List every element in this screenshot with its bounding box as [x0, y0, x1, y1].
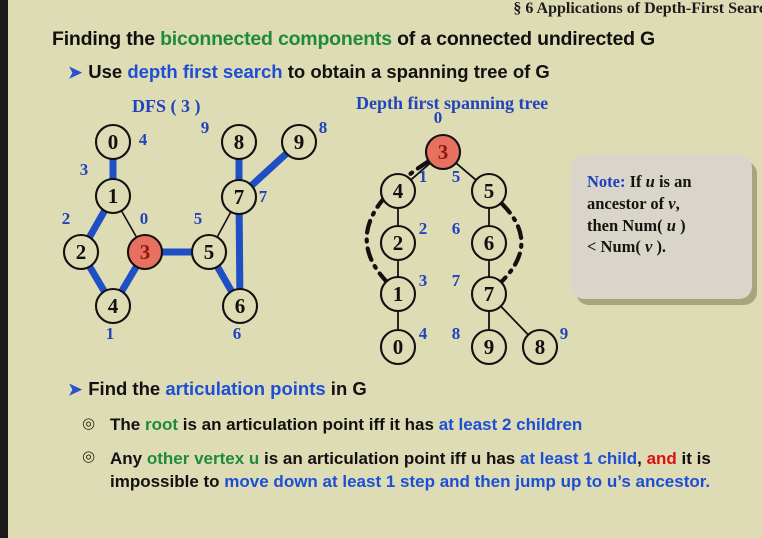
- title-highlight-green: biconnected components: [160, 28, 392, 50]
- note-l1a: If: [625, 172, 645, 191]
- right-num-label-1: 3: [419, 271, 428, 290]
- note-l2b: ,: [676, 194, 680, 213]
- bullet-find-part-2: in G: [326, 378, 367, 399]
- title-part-1: Finding the: [52, 28, 160, 50]
- left-node-5[interactable]: [192, 235, 226, 269]
- left-node-label-5: 5: [204, 240, 215, 264]
- left-num-label-8: 9: [201, 118, 210, 137]
- left-edge-7-9: [251, 153, 287, 186]
- right-num-label-5: 5: [452, 167, 461, 186]
- right-edge-3-5: [455, 162, 477, 180]
- arrow-bullet-icon: ➤: [68, 63, 82, 83]
- note-l2a: ancestor of: [587, 194, 668, 213]
- bullet-use-part-1: Use: [88, 61, 127, 82]
- left-num-label-1: 3: [80, 160, 89, 179]
- bullet-use-dfs: ➤Use depth first search to obtain a span…: [68, 61, 550, 83]
- sub-bullet-2-seg-1: other vertex u: [147, 449, 259, 468]
- right-num-label-4: 1: [419, 167, 428, 186]
- left-node-7[interactable]: [222, 180, 256, 214]
- sub-bullet-2-seg-5: and: [647, 449, 677, 468]
- left-node-4[interactable]: [96, 289, 130, 323]
- left-node-label-8: 8: [234, 130, 245, 154]
- right-node-label-5: 5: [484, 179, 495, 203]
- sub-bullet-1-seg-1: root: [145, 415, 178, 434]
- note-l4b: ).: [652, 237, 666, 256]
- left-node-8[interactable]: [222, 125, 256, 159]
- right-num-label-9: 8: [452, 324, 461, 343]
- target-bullet-icon-2: ◎: [82, 447, 95, 465]
- left-num-label-0: 4: [139, 130, 148, 149]
- sub-bullet-root: The root is an articulation point iff it…: [110, 415, 762, 435]
- left-node-label-4: 4: [108, 294, 119, 318]
- target-bullet-icon-1: ◎: [82, 414, 95, 432]
- right-node-label-8: 8: [535, 335, 546, 359]
- note-var-u-1: u: [646, 172, 655, 191]
- left-node-0[interactable]: [96, 125, 130, 159]
- left-node-label-1: 1: [108, 184, 119, 208]
- note-l1b: is an: [655, 172, 692, 191]
- left-num-label-6: 6: [233, 324, 242, 343]
- right-node-label-7: 7: [484, 282, 495, 306]
- title-part-2: of a connected undirected G: [392, 28, 655, 50]
- left-num-label-9: 8: [319, 118, 328, 137]
- left-edge-1-3: [121, 210, 137, 238]
- left-edge-6-7: [239, 213, 240, 290]
- left-node-label-3: 3: [140, 240, 151, 264]
- right-node-label-2: 2: [393, 231, 404, 255]
- note-l4a: < Num(: [587, 237, 645, 256]
- left-node-6[interactable]: [223, 289, 257, 323]
- right-node-1[interactable]: [381, 277, 415, 311]
- header-title: § 6 Applications of Depth-First Searc: [513, 0, 762, 18]
- right-node-label-4: 4: [393, 179, 404, 203]
- right-edge-7-8: [500, 306, 529, 336]
- slide-header: § 6 Applications of Depth-First Searc: [8, 0, 762, 20]
- sub-bullet-other-vertex: Any other vertex u is an articulation po…: [110, 448, 750, 493]
- right-node-label-6: 6: [484, 231, 495, 255]
- sub-bullet-2-seg-0: Any: [110, 449, 147, 468]
- right-node-2[interactable]: [381, 226, 415, 260]
- left-edge-4-3: [121, 266, 137, 292]
- note-var-u-2: u: [667, 216, 676, 235]
- right-node-0[interactable]: [381, 330, 415, 364]
- right-node-label-1: 1: [393, 282, 404, 306]
- right-node-label-0: 0: [393, 335, 404, 359]
- right-back-arc-5-7: [502, 204, 522, 282]
- right-edge-3-4: [410, 162, 431, 180]
- bullet-find-highlight: articulation points: [165, 378, 325, 399]
- right-num-label-8: 9: [560, 324, 569, 343]
- left-num-label-2: 2: [62, 209, 71, 228]
- bullet-use-highlight: depth first search: [127, 61, 282, 82]
- caption-dfs: DFS ( 3 ): [132, 96, 201, 117]
- right-node-label-9: 9: [484, 335, 495, 359]
- left-node-label-7: 7: [234, 185, 245, 209]
- caption-spanning-tree: Depth first spanning tree: [356, 93, 548, 114]
- right-node-5[interactable]: [472, 174, 506, 208]
- note-l3a: then Num(: [587, 216, 667, 235]
- left-node-label-2: 2: [76, 240, 87, 264]
- right-num-label-7: 7: [452, 271, 461, 290]
- bullet-use-part-2: to obtain a spanning tree of G: [283, 61, 550, 82]
- sub-bullet-1-seg-0: The: [110, 415, 145, 434]
- right-node-7[interactable]: [472, 277, 506, 311]
- right-node-8[interactable]: [523, 330, 557, 364]
- right-node-3[interactable]: [426, 135, 460, 169]
- note-label: Note:: [587, 172, 625, 191]
- left-node-label-0: 0: [108, 130, 119, 154]
- right-node-9[interactable]: [472, 330, 506, 364]
- right-node-6[interactable]: [472, 226, 506, 260]
- left-edge-2-4: [89, 266, 105, 292]
- right-node-label-3: 3: [438, 140, 449, 164]
- right-num-label-6: 6: [452, 219, 461, 238]
- sub-bullet-1-seg-3: at least 2 children: [439, 415, 583, 434]
- sub-bullet-2-seg-3: at least 1 child: [520, 449, 637, 468]
- sub-bullet-2-seg-2: is an articulation point iff u has: [259, 449, 520, 468]
- left-node-2[interactable]: [64, 235, 98, 269]
- left-num-label-5: 5: [194, 209, 203, 228]
- left-num-label-4: 1: [106, 324, 115, 343]
- left-node-label-9: 9: [294, 130, 305, 154]
- left-node-3[interactable]: [128, 235, 162, 269]
- note-box: Note: If u is an ancestor of v, then Num…: [571, 155, 752, 299]
- right-num-label-0: 4: [419, 324, 428, 343]
- note-l3b: ): [676, 216, 686, 235]
- right-back-arc-3-1: [367, 162, 428, 281]
- right-num-label-2: 2: [419, 219, 428, 238]
- left-edge-1-2: [89, 210, 105, 238]
- slide-canvas: § 6 Applications of Depth-First Searc Fi…: [8, 0, 762, 538]
- page-title: Finding the biconnected components of a …: [52, 28, 655, 51]
- bullet-find-part-1: Find the: [88, 378, 165, 399]
- right-node-4[interactable]: [381, 174, 415, 208]
- sub-bullet-2-seg-4: ,: [637, 449, 646, 468]
- left-num-label-3: 0: [140, 209, 149, 228]
- bullet-find-articulation: ➤Find the articulation points in G: [68, 378, 367, 400]
- sub-bullet-1-seg-2: is an articulation point iff it has: [178, 415, 439, 434]
- note-var-v-1: v: [668, 194, 675, 213]
- left-edge-5-6: [217, 266, 232, 292]
- sub-bullet-2-seg-7: move down at least 1 step and then jump …: [224, 472, 710, 491]
- left-node-1[interactable]: [96, 179, 130, 213]
- note-text: Note: If u is an ancestor of v, then Num…: [587, 171, 747, 258]
- arrow-bullet-icon-2: ➤: [68, 380, 82, 400]
- left-node-label-6: 6: [235, 294, 246, 318]
- left-edge-5-7: [217, 211, 232, 238]
- left-node-9[interactable]: [282, 125, 316, 159]
- left-num-label-7: 7: [259, 187, 268, 206]
